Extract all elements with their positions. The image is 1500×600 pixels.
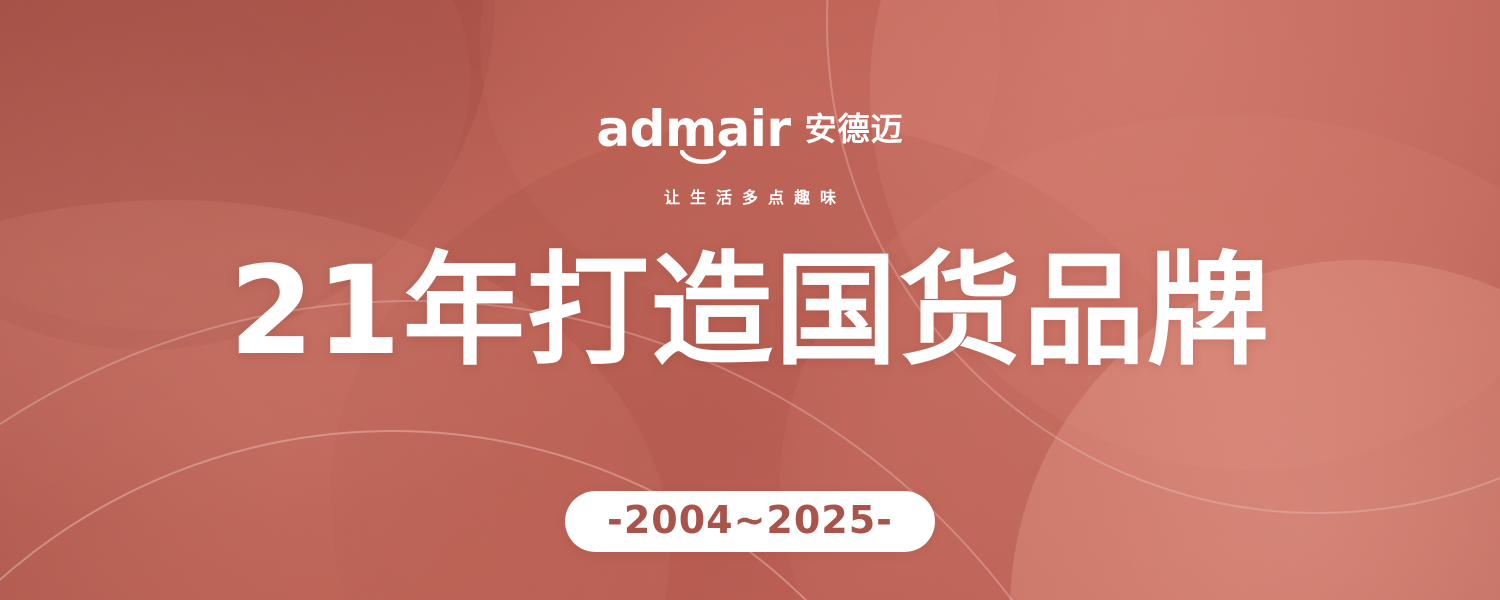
smile-curve-icon <box>680 150 726 166</box>
banner-headline: 21年打造国货品牌 <box>229 249 1271 373</box>
promo-banner: admair 安德迈 让生活多点趣味 21年打造国货品牌 -2004~2025- <box>0 0 1500 600</box>
brand-wordmark: admair <box>596 105 790 153</box>
year-range-badge: -2004~2025- <box>565 491 935 552</box>
banner-content: admair 安德迈 让生活多点趣味 21年打造国货品牌 -2004~2025- <box>0 0 1500 600</box>
brand-logo: admair 安德迈 <box>596 104 903 153</box>
brand-name-cn: 安德迈 <box>805 104 904 153</box>
brand-tagline: 让生活多点趣味 <box>654 184 846 208</box>
